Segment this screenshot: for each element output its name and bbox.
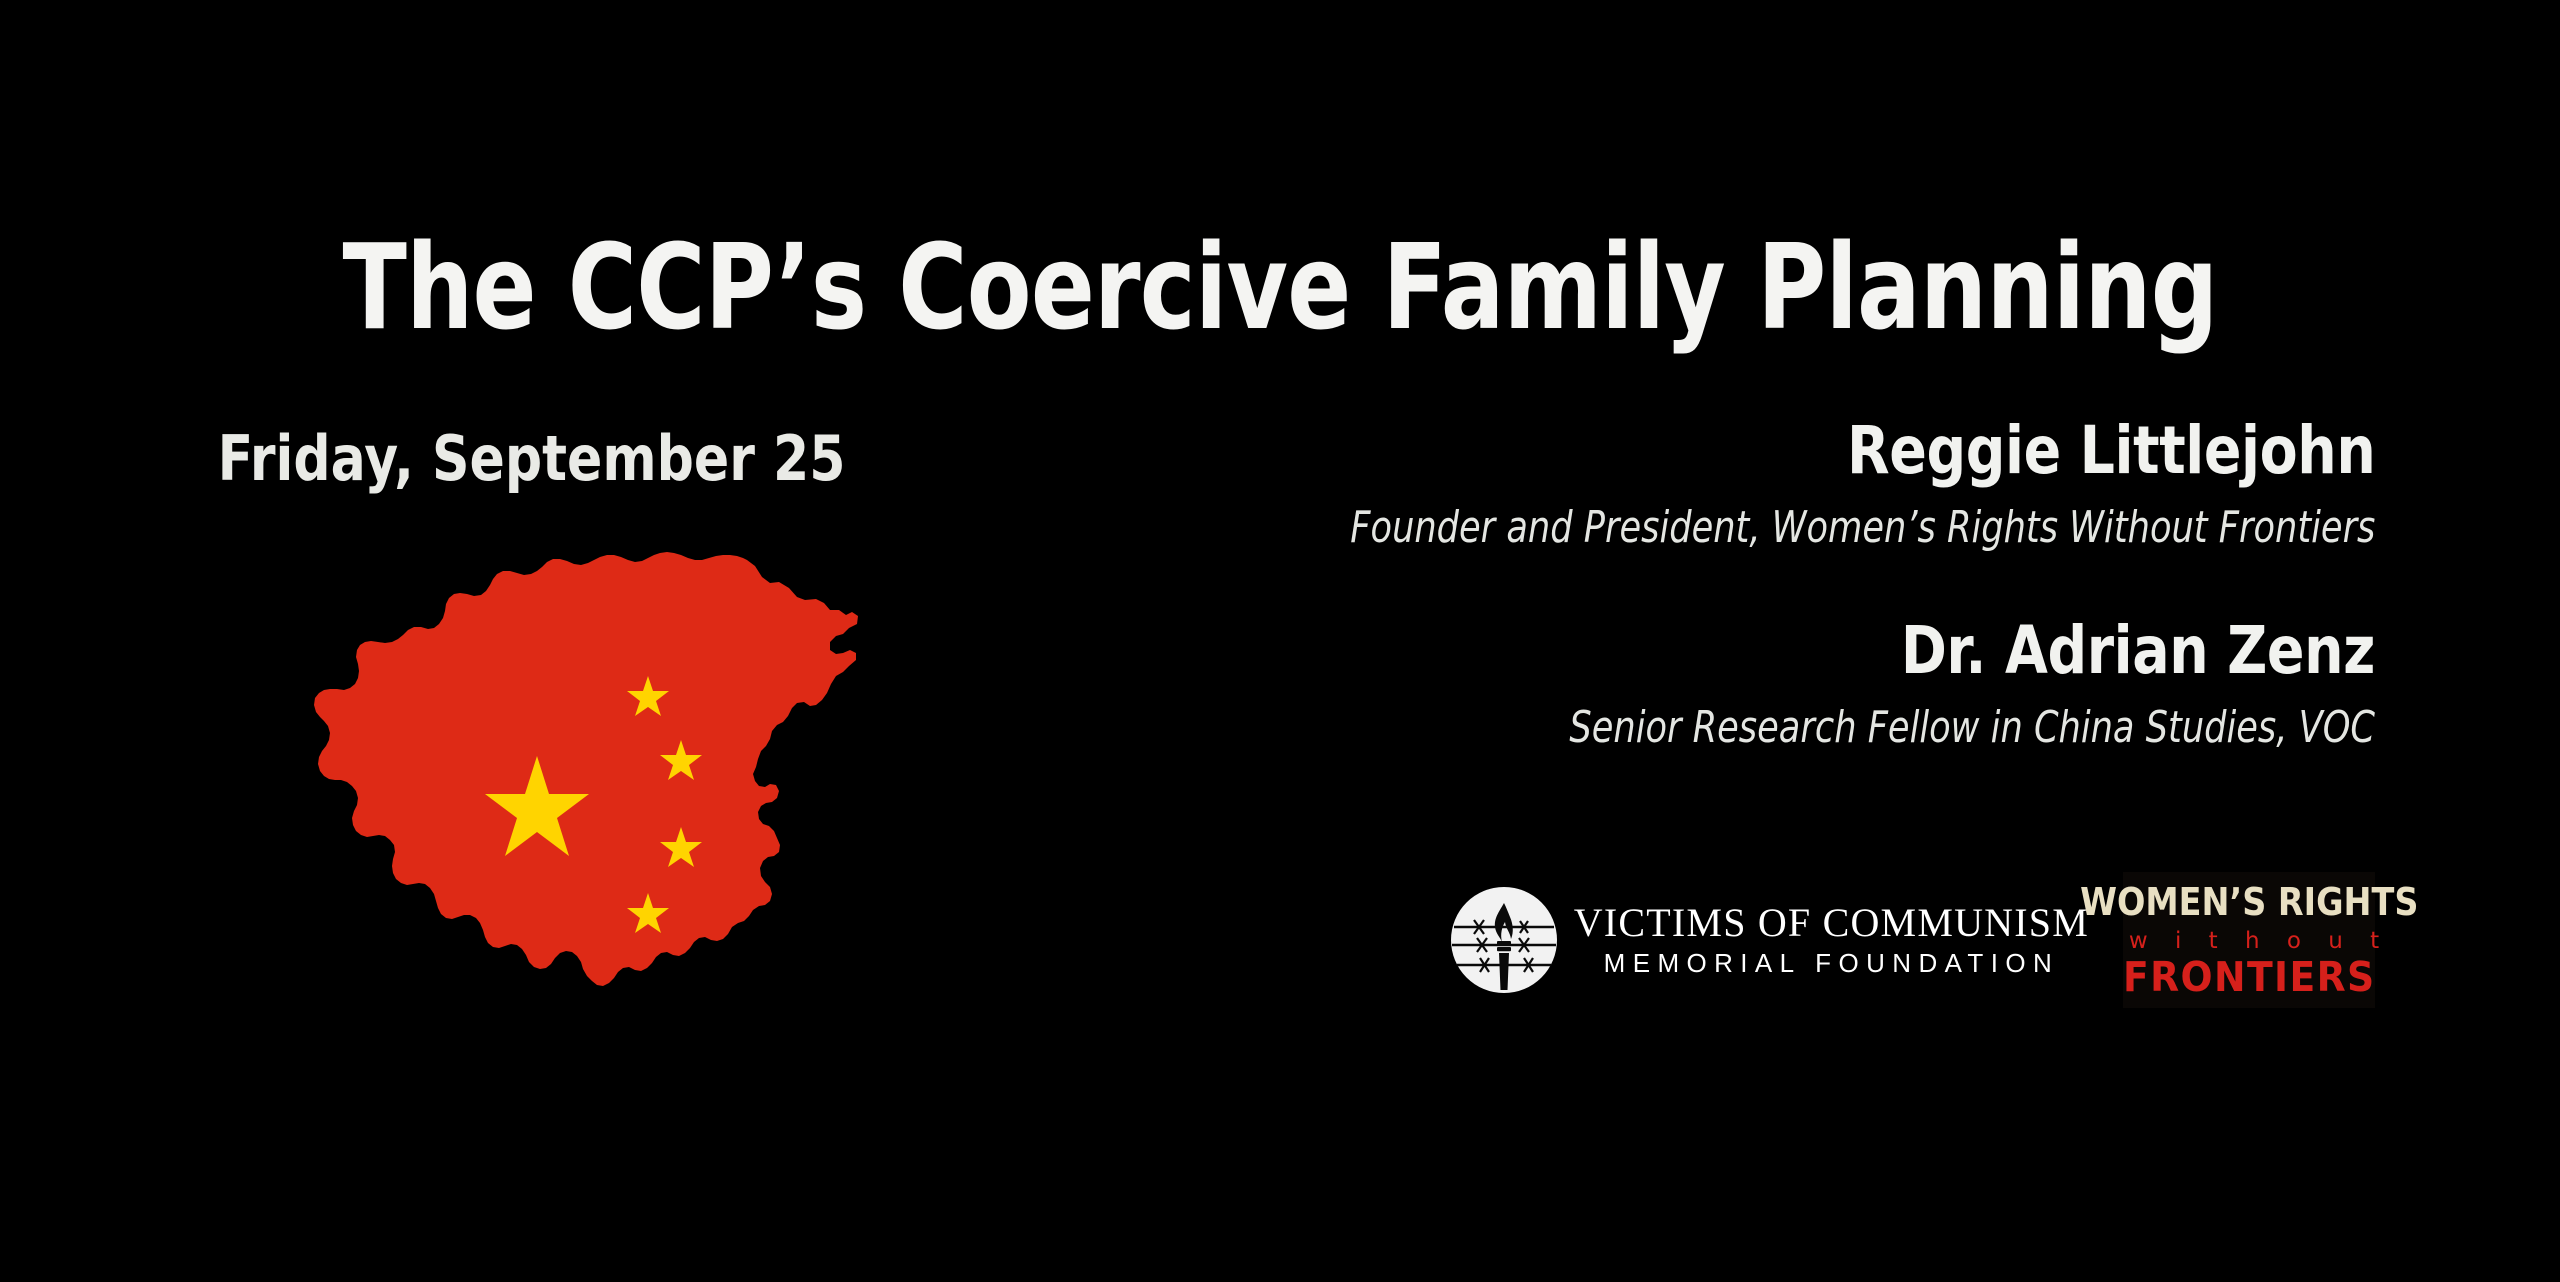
womens-rights-without-frontiers-logo: WOMEN’S RIGHTS w i t h o u t FRONTIERS [2123, 872, 2375, 1008]
speaker-role: Senior Research Fellow in China Studies,… [1569, 706, 2375, 750]
china-mainland-shape [314, 552, 858, 986]
speaker-block-2: Dr. Adrian Zenz Senior Research Fellow i… [1368, 618, 2375, 750]
torch-barbed-wire-icon [1450, 886, 1558, 994]
china-map-illustration [300, 550, 900, 1050]
china-landmass [314, 552, 858, 986]
page-title: The CCP’s Coercive Family Planning [256, 228, 2304, 346]
wrwf-name-line: WOMEN’S RIGHTS [2080, 883, 2418, 921]
speaker-role: Founder and President, Women’s Rights Wi… [1350, 506, 2375, 550]
event-date: Friday, September 25 [218, 428, 823, 490]
voc-name-line: VICTIMS OF COMMUNISM [1574, 902, 2089, 944]
victims-of-communism-logo: VICTIMS OF COMMUNISM MEMORIAL FOUNDATION [1450, 886, 2089, 994]
wrwf-without-line: w i t h o u t [2119, 930, 2389, 953]
speaker-name: Dr. Adrian Zenz [1529, 618, 2375, 684]
speaker-block-1: Reggie Littlejohn Founder and President,… [1094, 418, 2375, 550]
china-map-svg [300, 550, 900, 1050]
voc-subtitle-line: MEMORIAL FOUNDATION [1604, 949, 2060, 978]
wrwf-frontiers-line: FRONTIERS [2123, 957, 2376, 998]
speaker-name: Reggie Littlejohn [1299, 418, 2375, 484]
logo-row: VICTIMS OF COMMUNISM MEMORIAL FOUNDATION… [1450, 870, 2375, 1010]
event-promo-graphic: The CCP’s Coercive Family Planning Frida… [0, 0, 2560, 1282]
voc-wordmark: VICTIMS OF COMMUNISM MEMORIAL FOUNDATION [1574, 902, 2089, 978]
